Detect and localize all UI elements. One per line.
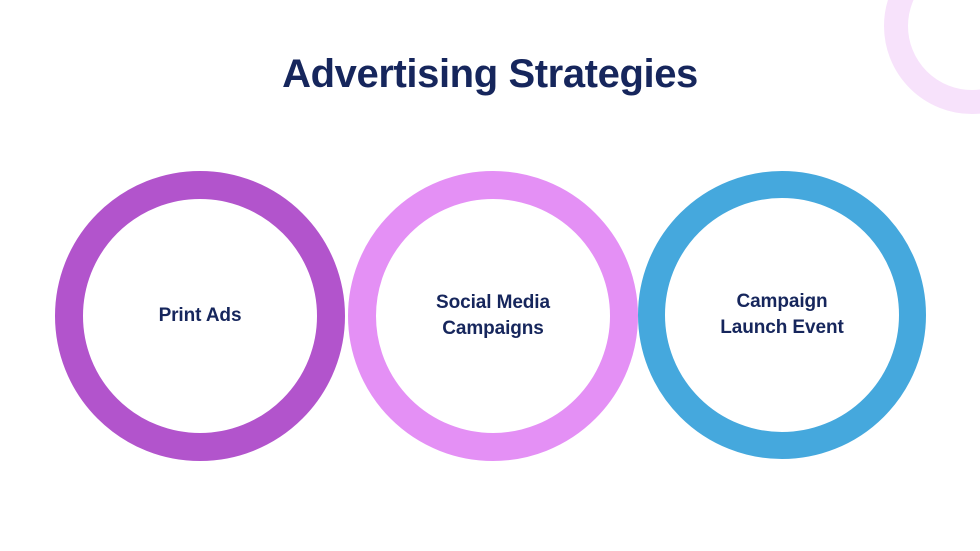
circle-item-print-ads[interactable]: Print Ads [55,171,345,461]
circle-label: Campaign Launch Event [706,289,857,340]
circle-label: Social Media Campaigns [422,290,564,341]
circle-item-social-media-campaigns[interactable]: Social Media Campaigns [348,171,638,461]
slide-canvas: Advertising Strategies Print Ads Social … [0,0,980,551]
page-title: Advertising Strategies [0,52,980,96]
circle-group: Print Ads Social Media Campaigns Campaig… [0,171,980,461]
circle-item-campaign-launch-event[interactable]: Campaign Launch Event [638,171,926,459]
circle-label: Print Ads [145,303,256,329]
